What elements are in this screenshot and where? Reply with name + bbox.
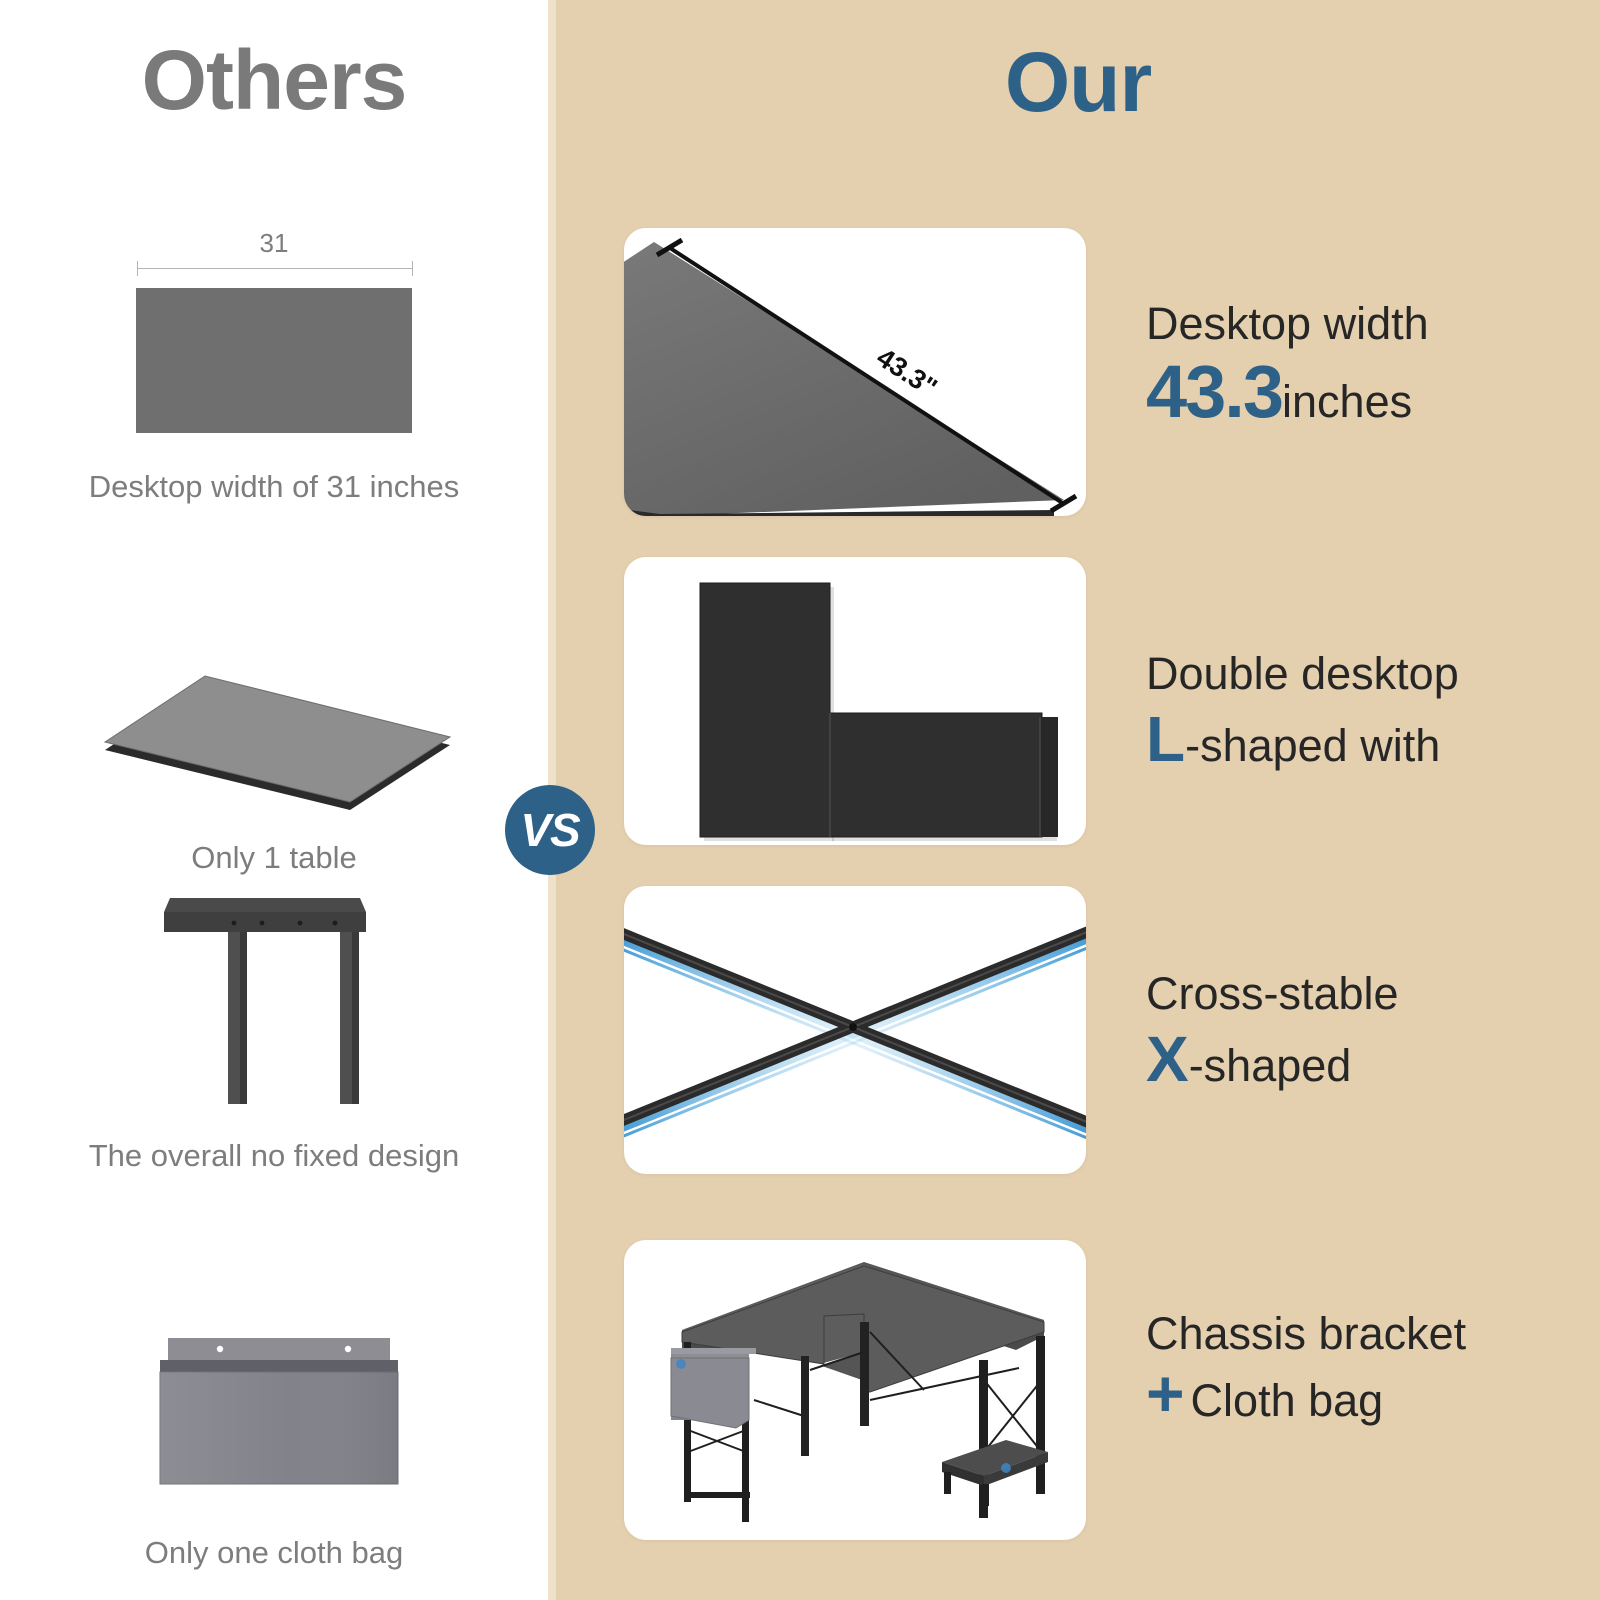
others-item-single-table: Only 1 table bbox=[0, 650, 548, 876]
our-text-cross-stable: Cross-stable X -shaped bbox=[1146, 970, 1399, 1092]
others-item-desktop-width: 31 Desktop width of 31 inches bbox=[0, 228, 548, 505]
table-frame-legs-icon bbox=[0, 890, 548, 1120]
our-card-double-desktop bbox=[624, 557, 1086, 845]
our-card-desktop-width: 43.3" bbox=[624, 228, 1086, 516]
rectangle-desktop-top-view-icon bbox=[136, 288, 412, 433]
our-text-desktop-width: Desktop width 43.3 inches bbox=[1146, 300, 1429, 429]
others-title: Others bbox=[0, 38, 548, 122]
cloth-bag-icon bbox=[0, 1290, 548, 1505]
our-row4-line2-rest: Cloth bag bbox=[1191, 1375, 1384, 1427]
l-shaped-desk-full-icon bbox=[624, 1240, 1086, 1540]
our-card-chassis-bracket bbox=[624, 1240, 1086, 1540]
others-caption-3: The overall no fixed design bbox=[0, 1138, 548, 1174]
our-row3-line2-rest: -shaped bbox=[1189, 1040, 1352, 1092]
others-item-no-fixed-design: The overall no fixed design bbox=[0, 890, 548, 1174]
comparison-infographic: Others Our 31 Desktop width of 31 inches… bbox=[0, 0, 1600, 1600]
our-text-chassis-bracket: Chassis bracket + Cloth bag bbox=[1146, 1310, 1466, 1427]
our-row3-accent: X bbox=[1146, 1027, 1189, 1091]
our-row2-line1: Double desktop bbox=[1146, 650, 1459, 697]
others-caption-1: Desktop width of 31 inches bbox=[0, 469, 548, 505]
our-row1-line1: Desktop width bbox=[1146, 300, 1429, 347]
our-text-double-desktop: Double desktop L -shaped with bbox=[1146, 650, 1459, 772]
our-card-cross-stable bbox=[624, 886, 1086, 1174]
dimension-tick-right bbox=[412, 261, 413, 276]
our-row3-line1: Cross-stable bbox=[1146, 970, 1399, 1017]
our-row1-value: 43.3 bbox=[1146, 355, 1282, 429]
x-shaped-cross-brace-icon bbox=[624, 886, 1086, 1174]
our-row2-line2-rest: -shaped with bbox=[1185, 720, 1440, 772]
dimension-line bbox=[137, 268, 413, 269]
desktop-width-measure-icon: 43.3" bbox=[624, 228, 1086, 516]
our-row4-accent: + bbox=[1146, 1367, 1185, 1420]
our-row1-unit: inches bbox=[1282, 376, 1412, 428]
our-row2-accent: L bbox=[1146, 707, 1185, 771]
our-row4-line1: Chassis bracket bbox=[1146, 1310, 1466, 1357]
others-caption-4: Only one cloth bag bbox=[0, 1535, 548, 1571]
our-title: Our bbox=[556, 40, 1600, 124]
dimension-31: 31 bbox=[0, 228, 548, 288]
l-shaped-double-desktop-icon bbox=[624, 557, 1086, 845]
others-item-cloth-bag: Only one cloth bag bbox=[0, 1290, 548, 1571]
single-tabletop-isometric-icon bbox=[0, 650, 548, 810]
dimension-tick-left bbox=[137, 261, 138, 276]
others-caption-2: Only 1 table bbox=[0, 840, 548, 876]
dimension-label: 31 bbox=[0, 228, 548, 259]
vs-badge: VS bbox=[505, 785, 595, 875]
